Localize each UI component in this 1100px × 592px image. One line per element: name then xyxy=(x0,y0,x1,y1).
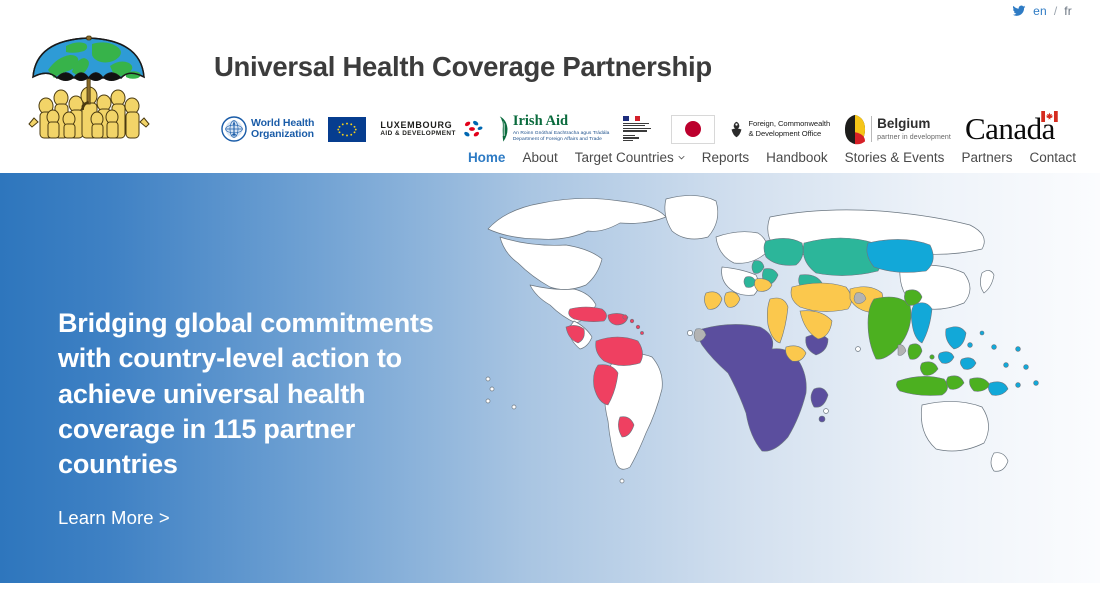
nav-item-target-countries[interactable]: Target Countries xyxy=(575,150,685,165)
top-utility-bar: en / fr xyxy=(0,0,1100,22)
france-flag-icon xyxy=(623,116,640,121)
world-map-who-regions[interactable] xyxy=(470,181,1050,491)
donor-logo-strip: World Health Organization xyxy=(214,105,1065,153)
donor-logo-who[interactable]: World Health Organization xyxy=(214,105,321,153)
learn-more-link[interactable]: Learn More > xyxy=(58,507,170,529)
luxembourg-name: LUXEMBOURG xyxy=(380,120,455,130)
nav-item-partners[interactable]: Partners xyxy=(961,150,1012,165)
hero-banner: Bridging global commitments with country… xyxy=(0,173,1100,583)
japan-flag-icon xyxy=(671,115,715,144)
donor-logo-european-union[interactable] xyxy=(321,105,373,153)
donor-logo-france[interactable] xyxy=(616,105,664,153)
belgium-mark-icon xyxy=(844,114,866,145)
nav-item-reports[interactable]: Reports xyxy=(702,150,749,165)
main-navigation: Home About Target Countries Reports Hand… xyxy=(468,150,1076,165)
footer-strip xyxy=(0,583,1100,592)
nav-item-handbook[interactable]: Handbook xyxy=(766,150,828,165)
france-ministry-text xyxy=(623,123,657,142)
who-logo-text: World Health Organization xyxy=(251,118,314,140)
lang-separator: / xyxy=(1054,4,1057,18)
nav-item-stories-and-events[interactable]: Stories & Events xyxy=(845,150,945,165)
hero-copy: Bridging global commitments with country… xyxy=(58,306,458,529)
donor-logo-irish-aid[interactable]: Irish Aid An Roinn Gnóthaí Eachtracha ag… xyxy=(490,105,617,153)
nav-item-contact[interactable]: Contact xyxy=(1029,150,1076,165)
fcdo-text: Foreign, Commonwealth & Development Offi… xyxy=(748,119,830,140)
who-emblem-icon xyxy=(221,116,247,142)
lang-fr-link[interactable]: fr xyxy=(1064,4,1072,18)
irish-harp-icon xyxy=(497,114,511,144)
nav-item-about[interactable]: About xyxy=(522,150,557,165)
canada-flag-icon xyxy=(1041,111,1058,122)
donor-logo-japan[interactable] xyxy=(664,105,722,153)
eu-flag-icon xyxy=(328,117,366,142)
luxembourg-tagline: AID & DEVELOPMENT xyxy=(380,130,455,138)
twitter-icon[interactable] xyxy=(1012,4,1026,18)
nav-item-home[interactable]: Home xyxy=(468,150,506,165)
hero-headline: Bridging global commitments with country… xyxy=(58,306,458,483)
donor-logo-fcdo[interactable]: Foreign, Commonwealth & Development Offi… xyxy=(722,105,837,153)
donor-logo-luxembourg[interactable]: LUXEMBOURG AID & DEVELOPMENT xyxy=(373,105,489,153)
belgium-name: Belgium xyxy=(877,117,951,131)
irish-aid-subtitle: An Roinn Gnóthaí Eachtracha agus Trádála… xyxy=(513,131,610,144)
luxembourg-mark-icon xyxy=(461,118,483,140)
royal-crest-icon xyxy=(729,121,744,138)
chevron-down-icon xyxy=(678,154,685,161)
donor-logo-canada[interactable]: Canada xyxy=(958,105,1065,153)
page-title: Universal Health Coverage Partnership xyxy=(214,52,712,82)
belgium-tagline: partner in development xyxy=(877,134,951,141)
nav-item-label: Target Countries xyxy=(575,150,674,165)
donor-logo-belgium[interactable]: Belgium partner in development xyxy=(837,105,958,153)
lang-en-link[interactable]: en xyxy=(1033,4,1047,18)
umbrella-globe-people-logo[interactable] xyxy=(26,24,152,142)
header-main: Universal Health Coverage Partnership xyxy=(214,52,712,82)
site-header: Universal Health Coverage Partnership xyxy=(0,22,1100,173)
irish-aid-title: Irish Aid xyxy=(513,114,610,129)
